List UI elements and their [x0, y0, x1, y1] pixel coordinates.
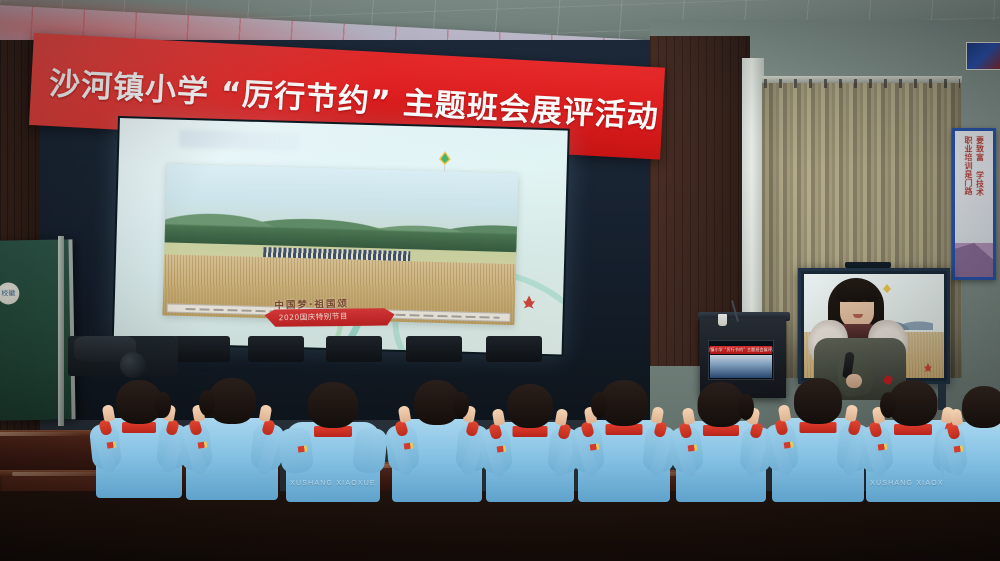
child-hand [555, 408, 569, 426]
child-ponytail [738, 394, 754, 420]
speaker-box [248, 336, 304, 362]
child-flag-patch [298, 445, 308, 452]
child-hand [778, 404, 792, 422]
maple-leaf-mark-icon [923, 363, 933, 372]
podium-monitor: 沙河镇小学 “厉行节约” 主题班会展评活动 [708, 340, 774, 380]
child-flag-patch [497, 445, 507, 452]
child-hand [102, 404, 116, 422]
child-hand [398, 405, 412, 423]
child-flag-patch [198, 441, 208, 448]
child-flag-patch [784, 441, 794, 448]
child-shoulder [278, 426, 314, 474]
child-head [208, 378, 256, 424]
child-ponytail [199, 390, 215, 416]
teacher-eye-right [862, 300, 867, 302]
bench-highlight [0, 432, 82, 436]
projection-screen: 中国梦·祖国颂 2020国庆特别节目 [112, 116, 570, 357]
slide-faint-heading [179, 130, 299, 151]
child-flag-patch [590, 443, 600, 450]
projection-screen-surface: 中国梦·祖国颂 2020国庆特别节目 [114, 118, 568, 354]
child-head [794, 378, 842, 424]
audience-child [392, 380, 482, 502]
audience-child [578, 380, 670, 502]
paper-cup [718, 314, 727, 326]
child-flag-patch [404, 442, 414, 449]
small-wall-poster [966, 42, 1000, 70]
child-hand [845, 404, 859, 422]
speaker-box [406, 336, 462, 362]
teacher-hair-fringe [836, 280, 878, 302]
child-head [308, 382, 358, 428]
child-flag-patch [688, 444, 698, 451]
child-head [889, 380, 938, 426]
child-flag-patch [878, 443, 888, 450]
child-ponytail [155, 392, 171, 418]
chalkboard: 校徽 [0, 239, 76, 420]
wall-banner: 要致富 学技术 职业培训是门路 [952, 128, 996, 280]
speaker-box [486, 336, 542, 362]
audience-child [772, 378, 864, 502]
child-ponytail [591, 392, 607, 418]
child-flag-patch [107, 441, 117, 448]
audience-child [186, 378, 278, 500]
child-shoulder [351, 426, 387, 474]
classroom-photo-scene: 要致富 学技术 职业培训是门路 沙河镇小学 “厉行节约” 主题班会展评活动 [0, 0, 1000, 561]
slide-ribbon-subtitle: 2020国庆特别节目 [279, 311, 348, 324]
teacher-eye-left [847, 300, 852, 302]
audience-child [676, 382, 766, 502]
speaker-box [174, 336, 230, 362]
child-hand [682, 407, 696, 425]
equipment-row [120, 336, 570, 370]
podium-monitor-banner: 沙河镇小学 “厉行节约” 主题班会展评活动 [710, 346, 772, 354]
maple-leaf-mark-icon [521, 295, 537, 309]
child-uniform-back-text: XUSHANG XIAOXUE [870, 480, 956, 487]
audience-child [486, 384, 574, 502]
audience-child [944, 386, 1000, 502]
child-hand [651, 406, 665, 424]
child-flag-patch [954, 445, 964, 452]
child-hand [492, 408, 506, 426]
audience-child [96, 380, 182, 498]
chalkboard-frame-edge [58, 236, 64, 426]
audience-child: XUSHANG XIAOXUE [286, 382, 380, 502]
child-head [600, 380, 648, 426]
podium-monitor-banner-text: 沙河镇小学 “厉行节约” 主题班会展评活动 [708, 347, 774, 353]
child-ponytail [453, 392, 469, 418]
wall-banner-artwork [955, 243, 993, 277]
curtain-hooks [764, 79, 960, 88]
speaker-box [326, 336, 382, 362]
podium-monitor-wallpaper [710, 355, 772, 378]
child-hand [259, 404, 273, 422]
kite-icon [437, 151, 454, 171]
child-head [962, 386, 1000, 428]
school-emblem-sticker: 校徽 [0, 282, 20, 304]
slide-ribbon: 中国梦·祖国颂 2020国庆特别节目 [264, 294, 395, 331]
child-uniform-back-text: XUSHANG XIAOXUE [290, 480, 376, 487]
child-head [507, 384, 553, 428]
equipment-knob [120, 352, 146, 378]
child-ponytail [880, 392, 896, 418]
